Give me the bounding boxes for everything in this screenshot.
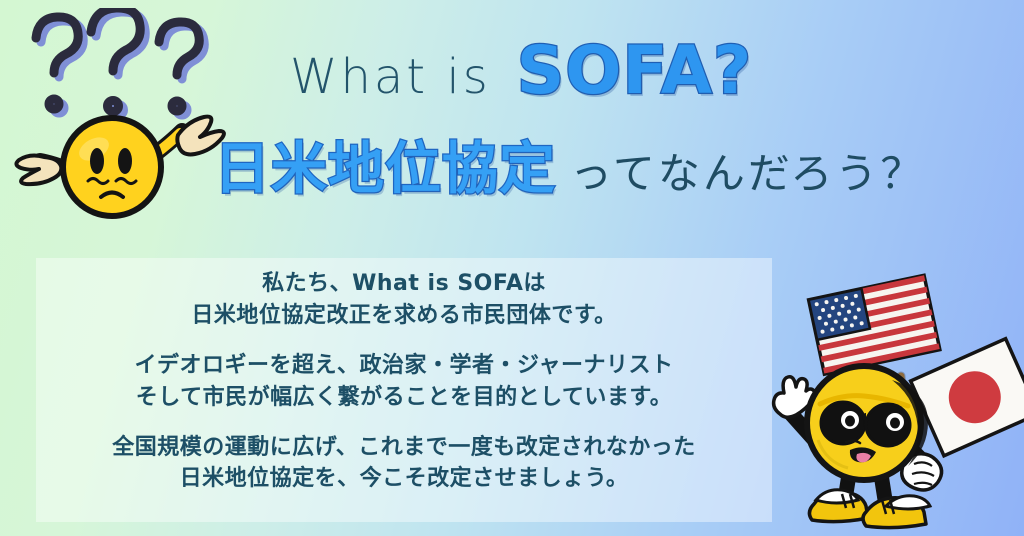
body-line: 日米地位協定を、今こそ改定させましょう。 bbox=[36, 463, 772, 495]
body-line: 全国規模の運動に広げ、これまで一度も改定されなかった bbox=[36, 432, 772, 464]
yellow-mascot-holding-flags-icon bbox=[758, 268, 1024, 536]
headline-jp-tail: ってなんだろう？ bbox=[570, 153, 925, 195]
left-shoe bbox=[809, 490, 868, 522]
japan-flag bbox=[911, 339, 1024, 456]
right-shoe bbox=[863, 496, 930, 528]
body-line: イデオロギーを超え、政治家・学者・ジャーナリスト bbox=[36, 350, 772, 382]
body-line: 私たち、What is SOFAは bbox=[36, 268, 772, 300]
headline-jp-title: 日米地位協定 bbox=[214, 142, 556, 198]
body-paragraph-1: 私たち、What is SOFAは 日米地位協定改正を求める市民団体です。 bbox=[36, 268, 772, 332]
sofa-banner: What is SOFA? 日米地位協定 ってなんだろう？ 私たち、What i… bbox=[0, 0, 1024, 536]
body-paragraph-2: イデオロギーを超え、政治家・学者・ジャーナリスト そして市民が幅広く繋がることを… bbox=[36, 350, 772, 414]
headline-prefix: What is bbox=[290, 53, 491, 101]
body-text: 私たち、What is SOFAは 日米地位協定改正を求める市民団体です。 イデ… bbox=[36, 268, 772, 495]
headline-line-1: What is SOFA? bbox=[290, 38, 752, 104]
headline-line-2: 日米地位協定 ってなんだろう？ bbox=[214, 142, 925, 198]
body-line: 日米地位協定改正を求める市民団体です。 bbox=[36, 300, 772, 332]
body-paragraph-3: 全国規模の運動に広げ、これまで一度も改定されなかった 日米地位協定を、今こそ改定… bbox=[36, 432, 772, 496]
shrugging-yellow-face-mascot-icon bbox=[6, 105, 244, 230]
headline-brand: SOFA? bbox=[517, 38, 753, 104]
usa-flag bbox=[809, 275, 940, 374]
body-line: そして市民が幅広く繋がることを目的としています。 bbox=[36, 382, 772, 414]
